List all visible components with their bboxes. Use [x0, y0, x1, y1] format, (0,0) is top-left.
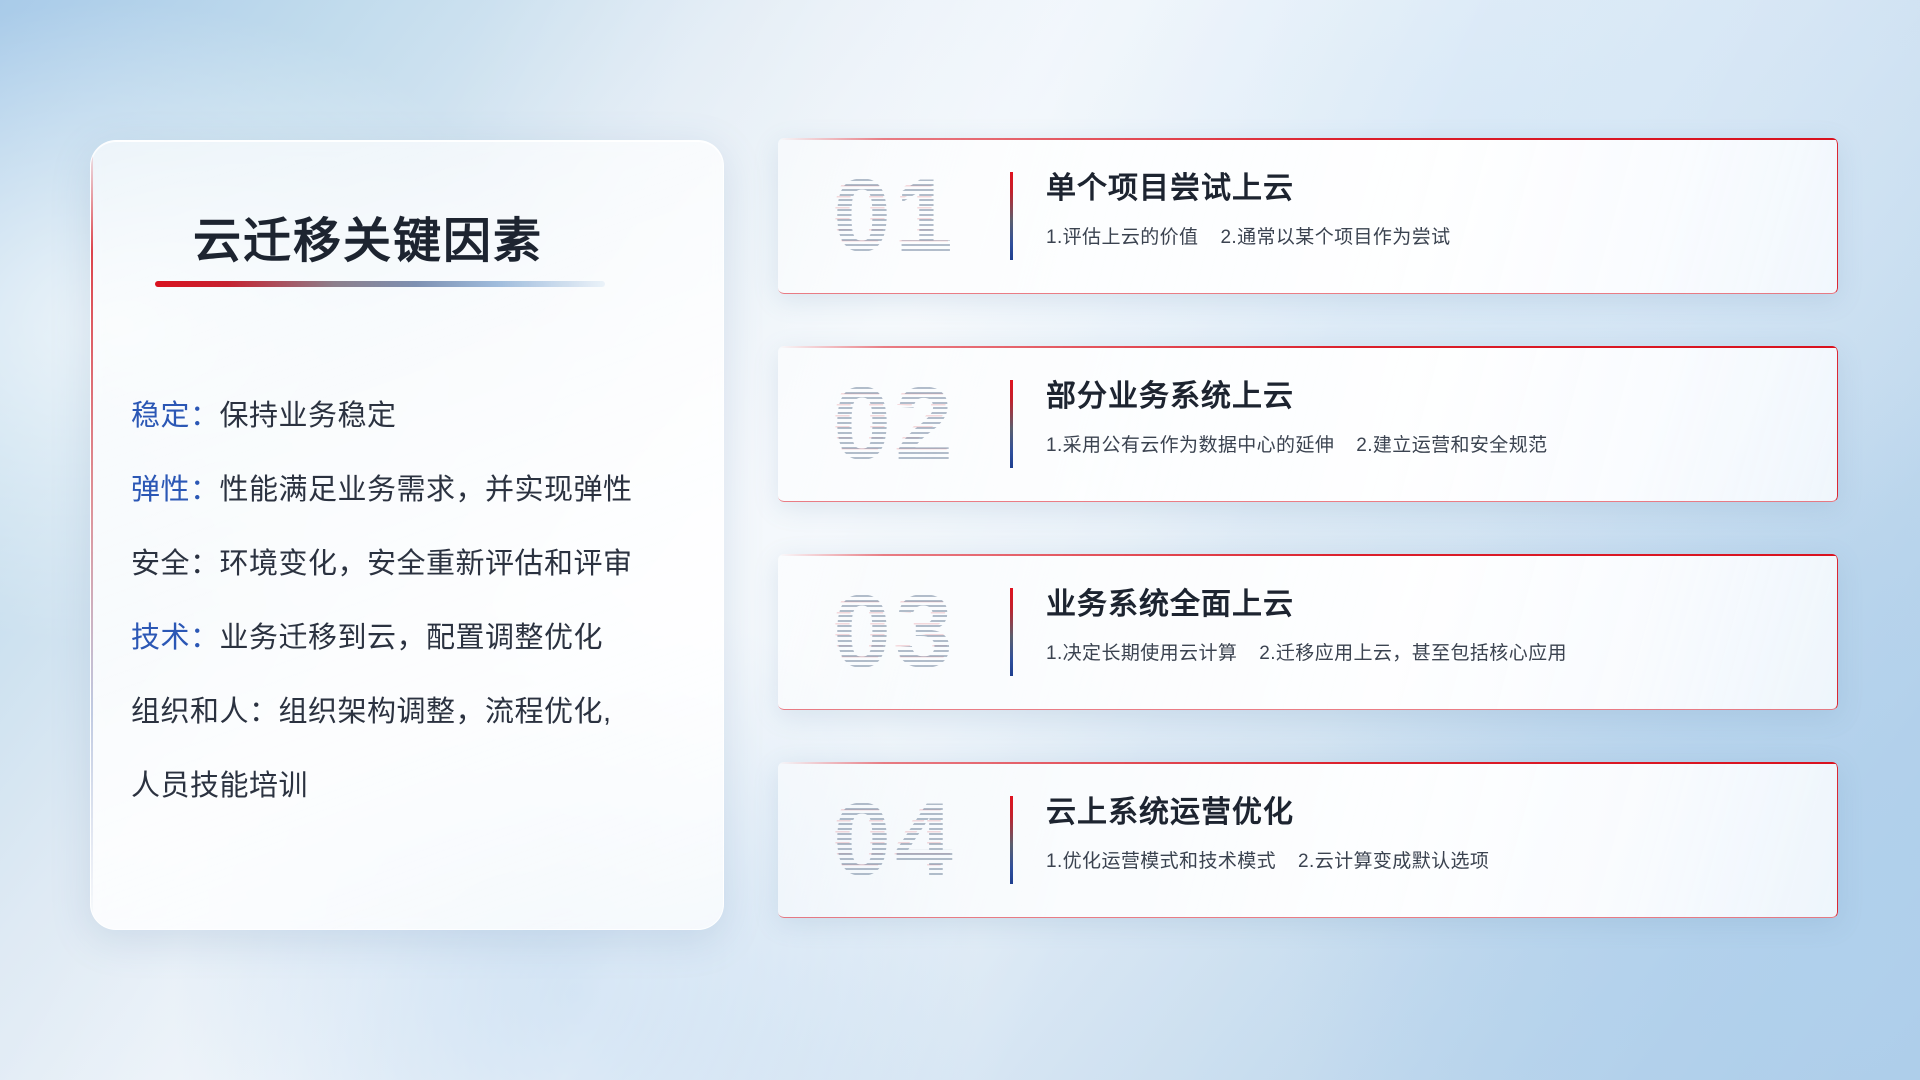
accent-divider-bar [1010, 796, 1013, 884]
accent-divider-bar [1010, 380, 1013, 468]
stage-card-body: 单个项目尝试上云 1.评估上云的价值2.通常以某个项目作为尝试 [1046, 168, 1814, 252]
title-underline-rule [155, 281, 605, 287]
factor-key: 稳定： [131, 400, 220, 432]
factor-value: 保持业务稳定 [220, 400, 397, 432]
factor-value: 性能满足业务需求，并实现弹性 [220, 474, 633, 506]
accent-divider-bar [1010, 588, 1013, 676]
stage-card-body: 部分业务系统上云 1.采用公有云作为数据中心的延伸2.建立运营和安全规范 [1046, 376, 1814, 460]
migration-stage-cards: 01 01 单个项目尝试上云 1.评估上云的价值2.通常以某个项目作为尝试 02… [778, 138, 1838, 970]
stage-description: 1.评估上云的价值2.通常以某个项目作为尝试 [1046, 224, 1814, 252]
factor-item: 技术：业务迁移到云，配置调整优化 [131, 601, 697, 675]
factor-key: 弹性： [131, 474, 220, 506]
stage-card[interactable]: 01 01 单个项目尝试上云 1.评估上云的价值2.通常以某个项目作为尝试 [778, 138, 1838, 294]
slide-canvas: 云迁移关键因素 稳定：保持业务稳定 弹性：性能满足业务需求，并实现弹性 安全：环… [0, 0, 1920, 1080]
factor-list: 稳定：保持业务稳定 弹性：性能满足业务需求，并实现弹性 安全：环境变化，安全重新… [131, 379, 697, 823]
factor-item: 弹性：性能满足业务需求，并实现弹性 [131, 453, 697, 527]
stage-card[interactable]: 02 02 部分业务系统上云 1.采用公有云作为数据中心的延伸2.建立运营和安全… [778, 346, 1838, 502]
stage-card-body: 业务系统全面上云 1.决定长期使用云计算2.迁移应用上云，甚至包括核心应用 [1046, 584, 1814, 668]
stage-number: 01 [800, 154, 990, 278]
stage-card[interactable]: 03 03 业务系统全面上云 1.决定长期使用云计算2.迁移应用上云，甚至包括核… [778, 554, 1838, 710]
stage-desc-item-2: 2.通常以某个项目作为尝试 [1220, 227, 1450, 248]
factor-item: 组织和人：组织架构调整，流程优化, [131, 675, 697, 749]
stage-description: 1.采用公有云作为数据中心的延伸2.建立运营和安全规范 [1046, 432, 1814, 460]
stage-title: 部分业务系统上云 [1046, 376, 1814, 418]
stage-desc-item-2: 2.云计算变成默认选项 [1298, 851, 1489, 872]
factor-key: 安全： [131, 548, 220, 580]
factor-value: 业务迁移到云，配置调整优化 [220, 622, 604, 654]
stage-desc-item-2: 2.建立运营和安全规范 [1356, 435, 1547, 456]
page-title: 云迁移关键因素 [193, 201, 543, 271]
stage-desc-item-2: 2.迁移应用上云，甚至包括核心应用 [1259, 643, 1567, 664]
stage-card-body: 云上系统运营优化 1.优化运营模式和技术模式2.云计算变成默认选项 [1046, 792, 1814, 876]
stage-number: 04 [800, 778, 990, 902]
stage-desc-item-1: 1.决定长期使用云计算 [1046, 643, 1237, 664]
factor-value: 环境变化，安全重新评估和评审 [220, 548, 633, 580]
key-factors-panel: 云迁移关键因素 稳定：保持业务稳定 弹性：性能满足业务需求，并实现弹性 安全：环… [90, 140, 724, 930]
stage-description: 1.优化运营模式和技术模式2.云计算变成默认选项 [1046, 848, 1814, 876]
stage-number: 03 [800, 570, 990, 694]
factor-item: 安全：环境变化，安全重新评估和评审 [131, 527, 697, 601]
factor-item-continuation: 人员技能培训 [131, 749, 697, 823]
factor-value: 人员技能培训 [131, 770, 308, 802]
stage-title: 业务系统全面上云 [1046, 584, 1814, 626]
stage-description: 1.决定长期使用云计算2.迁移应用上云，甚至包括核心应用 [1046, 640, 1814, 668]
factor-key: 技术： [131, 622, 220, 654]
accent-divider-bar [1010, 172, 1013, 260]
factor-value: 组织架构调整，流程优化, [279, 696, 612, 728]
factor-item: 稳定：保持业务稳定 [131, 379, 697, 453]
stage-title: 单个项目尝试上云 [1046, 168, 1814, 210]
stage-desc-item-1: 1.评估上云的价值 [1046, 227, 1198, 248]
stage-card[interactable]: 04 04 云上系统运营优化 1.优化运营模式和技术模式2.云计算变成默认选项 [778, 762, 1838, 918]
stage-number: 02 [800, 362, 990, 486]
factor-key: 组织和人： [131, 696, 279, 728]
stage-desc-item-1: 1.优化运营模式和技术模式 [1046, 851, 1276, 872]
stage-title: 云上系统运营优化 [1046, 792, 1814, 834]
stage-desc-item-1: 1.采用公有云作为数据中心的延伸 [1046, 435, 1334, 456]
